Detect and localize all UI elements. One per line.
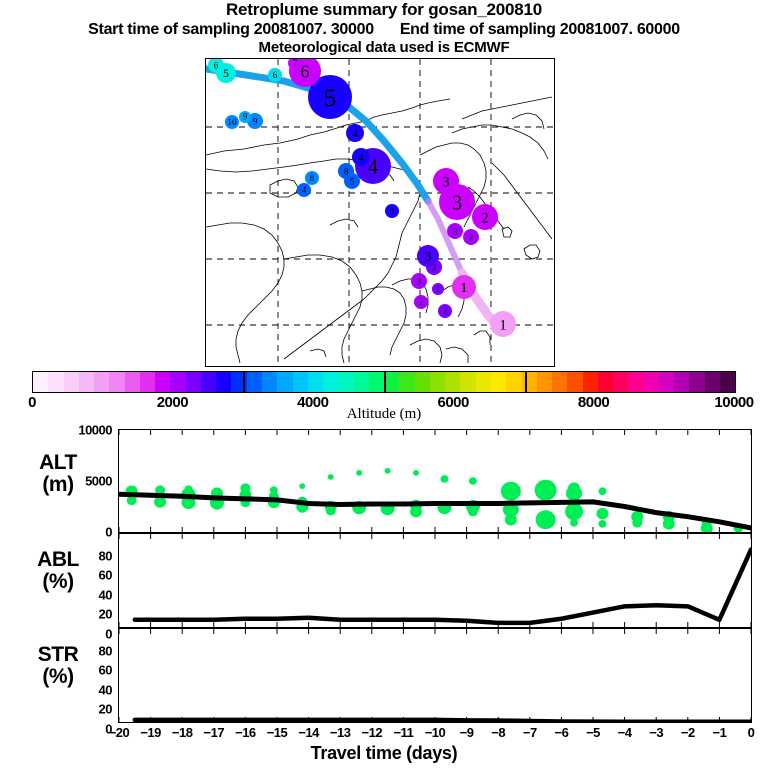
y-tick: 60 (99, 568, 112, 583)
x-tick: −16 (235, 725, 256, 740)
start-time-label: Start time of sampling 20081007. 30000 (88, 20, 374, 39)
svg-text:1: 1 (499, 317, 506, 333)
svg-text:6: 6 (214, 60, 219, 70)
colorbar-swatch-39 (628, 372, 643, 392)
map-marker: 4 (346, 124, 364, 142)
x-tick: −10 (425, 725, 446, 740)
svg-text:9: 9 (253, 116, 258, 126)
alt-scatter-point (469, 477, 477, 485)
alt-scatter-point (598, 520, 606, 528)
x-tick: −7 (523, 725, 537, 740)
x-tick: −19 (140, 725, 161, 740)
y-axis-ticks: 1000050000806040200806040200 (60, 420, 112, 768)
colorbar-swatch-14 (247, 372, 262, 392)
colorbar-swatch-0 (33, 372, 48, 392)
alt-mean-line (119, 494, 751, 528)
map-marker: 2 (438, 304, 452, 318)
y-tick: 80 (99, 644, 112, 659)
alt-scatter-point (299, 483, 305, 489)
alt-scatter-point (328, 474, 334, 480)
abl-line (135, 550, 751, 623)
map-marker: 4 (352, 148, 370, 166)
x-tick: −1 (712, 725, 726, 740)
colorbar-swatch-45 (720, 372, 735, 392)
x-tick: −14 (298, 725, 319, 740)
alt-scatter-point (501, 482, 521, 501)
x-tick: −8 (491, 725, 505, 740)
y-tick: 0 (105, 525, 112, 540)
map-marker: 2 (414, 295, 428, 309)
trajectory-map: 11122223333333444445556667889910 (205, 58, 555, 367)
alt-scatter-point (570, 519, 578, 527)
alt-scatter-point (596, 508, 608, 519)
colorbar-swatch-31 (506, 372, 521, 392)
svg-text:3: 3 (453, 226, 458, 236)
svg-text:2: 2 (419, 297, 424, 307)
x-tick: −3 (649, 725, 663, 740)
colorbar-swatch-20 (338, 372, 353, 392)
x-tick: −20 (109, 725, 130, 740)
colorbar-swatch-25 (415, 372, 430, 392)
colorbar-swatch-26 (430, 372, 445, 392)
map-marker: 3 (411, 273, 427, 289)
map-marker: 1 (432, 283, 444, 295)
colorbar-swatch-5 (109, 372, 124, 392)
map-marker: 2 (463, 229, 479, 245)
alt-scatter-point (440, 475, 448, 483)
colorbar-swatch-32 (522, 372, 537, 392)
alt-scatter-point (385, 468, 391, 474)
colorbar-swatch-9 (170, 372, 185, 392)
alt-scatter-point (468, 507, 478, 516)
x-tick: −4 (618, 725, 632, 740)
x-tick: −9 (460, 725, 474, 740)
svg-text:4: 4 (302, 185, 307, 195)
colorbar-swatch-8 (155, 372, 170, 392)
colorbar-swatch-4 (94, 372, 109, 392)
timeseries-panels: ALT (m) ABL (%) STR (%) 1000050000806040… (0, 420, 768, 768)
map-marker: 8 (305, 171, 319, 185)
alt-scatter-point (565, 503, 583, 520)
y-tick: 40 (99, 682, 112, 697)
y-tick: 20 (99, 702, 112, 717)
svg-text:4: 4 (358, 153, 364, 164)
colorbar-swatch-41 (659, 372, 674, 392)
alt-scatter-point (413, 470, 419, 476)
svg-text:8: 8 (310, 173, 315, 183)
colorbar-swatch-34 (552, 372, 567, 392)
map-marker: 8 (338, 163, 354, 179)
colorbar-swatch-23 (384, 372, 399, 392)
page-title: Retroplume summary for gosan_200810 (0, 0, 768, 20)
x-tick: −17 (204, 725, 225, 740)
alt-scatter-point (632, 518, 642, 528)
header: Retroplume summary for gosan_200810 Star… (0, 0, 768, 57)
colorbar-swatch-36 (583, 372, 598, 392)
x-tick: −2 (681, 725, 695, 740)
altitude-colorbar: 0200040006000800010000 (32, 371, 736, 393)
colorbar-swatch-24 (399, 372, 414, 392)
svg-text:9: 9 (243, 112, 248, 122)
svg-text:4: 4 (352, 129, 358, 140)
x-tick: −13 (330, 725, 351, 740)
alt-scatter-point (536, 510, 556, 529)
abl-panel (118, 533, 752, 628)
y-tick: 80 (99, 549, 112, 564)
x-tick: −6 (554, 725, 568, 740)
map-marker: 3 (385, 204, 399, 218)
end-time-label: End time of sampling 20081007. 60000 (400, 20, 680, 39)
str-line (135, 720, 751, 722)
map-marker: 3 (447, 223, 463, 239)
colorbar-swatch-43 (689, 372, 704, 392)
colorbar-swatch-42 (674, 372, 689, 392)
colorbar-swatch-6 (125, 372, 140, 392)
colorbar-swatch-18 (308, 372, 323, 392)
colorbar-swatch-2 (64, 372, 79, 392)
map-marker: 9 (239, 111, 251, 123)
y-tick: 5000 (85, 474, 112, 489)
colorbar-swatch-40 (644, 372, 659, 392)
map-marker: 6 (268, 68, 282, 82)
x-tick: −15 (267, 725, 288, 740)
x-tick: −18 (172, 725, 193, 740)
colorbar-swatch-27 (445, 372, 460, 392)
x-tick: −12 (362, 725, 383, 740)
alt-scatter-point (326, 506, 336, 516)
y-tick: 0 (105, 626, 112, 641)
colorbar-swatch-10 (186, 372, 201, 392)
colorbar-swatch-44 (705, 372, 720, 392)
svg-text:1: 1 (436, 284, 441, 294)
colorbar-swatch-35 (567, 372, 582, 392)
svg-text:1: 1 (461, 280, 468, 295)
colorbar-swatch-37 (598, 372, 613, 392)
svg-text:2: 2 (443, 306, 448, 316)
x-tick: 0 (748, 725, 755, 740)
map-marker: 1 (452, 275, 476, 299)
map-canvas: 11122223333333444445556667889910 (206, 59, 554, 366)
y-tick: 40 (99, 587, 112, 602)
y-tick: 60 (99, 663, 112, 678)
colorbar-swatch-28 (460, 372, 475, 392)
y-tick: 10000 (78, 423, 112, 438)
map-marker: 1 (490, 311, 516, 337)
colorbar-swatch-21 (354, 372, 369, 392)
svg-text:5: 5 (350, 176, 355, 186)
x-axis-ticks: −20−19−18−17−16−15−14−13−12−11−10−9−8−7−… (0, 725, 768, 741)
colorbar-swatch-11 (201, 372, 216, 392)
svg-text:10: 10 (228, 117, 238, 127)
colorbar-swatch-19 (323, 372, 338, 392)
colorbar-swatch-38 (613, 372, 628, 392)
alt-scatter-point (535, 480, 557, 501)
colorbar-swatch-22 (369, 372, 384, 392)
alt-scatter-point (505, 514, 517, 525)
colorbar-swatch-16 (277, 372, 292, 392)
alt-scatter-point (566, 486, 582, 501)
map-marker: 2 (472, 204, 498, 230)
alt-scatter-point (356, 470, 362, 476)
map-marker: 4 (297, 183, 311, 197)
map-marker: 3 (433, 168, 459, 194)
met-data-label: Meteorological data used is ECMWF (0, 39, 768, 57)
colorbar-swatch-33 (537, 372, 552, 392)
svg-text:5: 5 (223, 68, 229, 80)
colorbar-swatch-17 (293, 372, 308, 392)
colorbar-swatch-15 (262, 372, 277, 392)
x-tick: −5 (586, 725, 600, 740)
svg-text:7: 7 (293, 59, 298, 68)
svg-text:3: 3 (452, 193, 462, 215)
alt-scatter-point (410, 506, 422, 517)
sampling-times: Start time of sampling 20081007. 30000 E… (0, 20, 768, 39)
alt-scatter-point (598, 487, 606, 495)
x-axis-title: Travel time (days) (0, 743, 768, 764)
svg-text:8: 8 (344, 166, 349, 176)
alt-panel (118, 429, 752, 533)
svg-text:2: 2 (481, 210, 488, 226)
map-marker: 10 (225, 115, 239, 129)
svg-text:3: 3 (417, 276, 422, 286)
svg-text:3: 3 (442, 174, 449, 190)
str-panel (118, 628, 752, 723)
y-tick: 20 (99, 607, 112, 622)
svg-text:6: 6 (273, 70, 278, 80)
svg-text:3: 3 (390, 206, 395, 216)
colorbar-swatch-7 (140, 372, 155, 392)
colorbar-swatch-30 (491, 372, 506, 392)
colorbar-swatch-3 (79, 372, 94, 392)
x-tick: −11 (393, 725, 413, 740)
map-marker: 3 (417, 245, 439, 267)
colorbar-swatch-12 (216, 372, 231, 392)
alt-scatter-point (663, 518, 675, 529)
svg-text:2: 2 (469, 232, 474, 242)
svg-text:5: 5 (324, 84, 337, 112)
colorbar-swatch-1 (48, 372, 63, 392)
svg-text:3: 3 (425, 250, 431, 264)
colorbar-swatch-29 (476, 372, 491, 392)
